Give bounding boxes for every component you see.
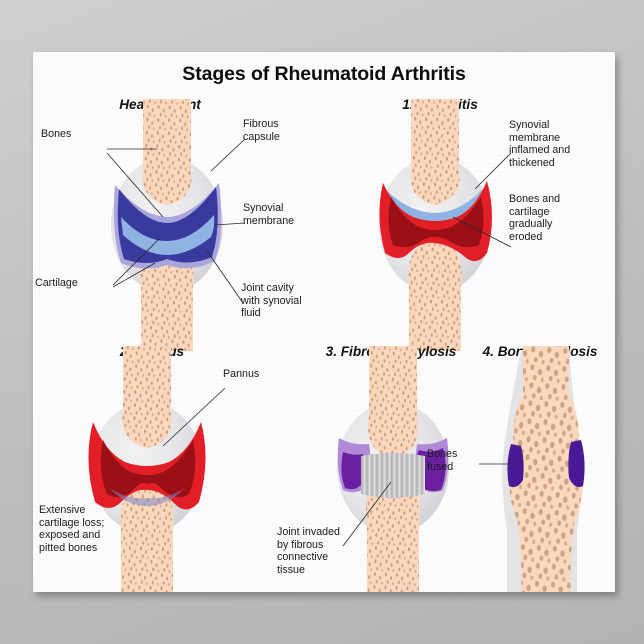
leader-synovial-inflamed [475,153,511,189]
lower-bone-shape [409,239,462,351]
poster: Stages of Rheumatoid Arthritis [33,52,615,592]
leader-fibrous-capsule [211,139,245,171]
upper-bone-shape [143,99,192,205]
page-title: Stages of Rheumatoid Arthritis [33,63,615,86]
figure-pannus [35,360,285,590]
callout-synovial-inflamed: Synovial membrane inflamed and thickened [509,119,570,169]
callout-cartilage-loss: Extensive cartilage loss; exposed and pi… [39,504,104,554]
fibrous-tissue-shape [361,453,425,498]
callout-pannus: Pannus [223,368,259,381]
callout-bones: Bones [41,128,71,141]
callout-joint-cavity: Joint cavity with synovial fluid [241,282,302,320]
callout-cartilage: Cartilage [35,277,78,290]
callout-joint-invaded: Joint invaded by fibrous connective tiss… [277,526,340,576]
callout-synovial-membrane: Synovial membrane [243,202,294,227]
panel-bony-ankylosis: 4. Bony ankylosis Bones fused [465,344,615,589]
purple-remnant-left [507,444,523,487]
upper-bone-shape [368,346,418,458]
leader-joint-cavity [207,251,243,303]
callout-fibrous-capsule: Fibrous capsule [243,118,280,143]
panel-pannus: 2. Pannus Pannus Extensive cartilage los… [35,344,285,589]
callout-bones-eroded: Bones and cartilage gradually eroded [509,193,560,243]
upper-bone-shape [123,346,172,448]
callout-bones-fused: Bones fused [427,448,457,473]
panel-healthy-joint: Healthy joint [35,97,325,342]
purple-remnant-right [568,440,584,487]
upper-bone-shape [411,99,460,205]
figure-synovitis [325,113,615,343]
figure-bony-ankylosis [465,360,615,590]
panel-synovitis: 1. Synovitis Synovial membrane inflamed … [325,97,615,342]
